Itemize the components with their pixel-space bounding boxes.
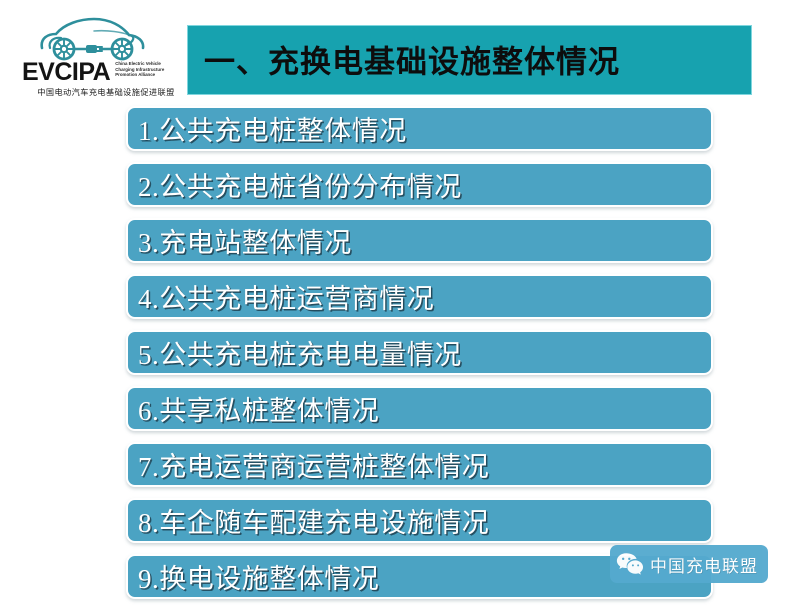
toc-item-2[interactable]: 2.公共充电桩省份分布情况 — [126, 162, 713, 207]
toc-item-4[interactable]: 4.公共充电桩运营商情况 — [126, 274, 713, 319]
toc-item-label: 7.充电运营商运营桩整体情况 — [128, 445, 489, 484]
logo-english-line-3: Promotion Alliance — [115, 72, 164, 78]
toc-item-7[interactable]: 7.充电运营商运营桩整体情况 — [126, 442, 713, 487]
table-of-contents: 1.公共充电桩整体情况 2.公共充电桩省份分布情况 3.充电站整体情况 4.公共… — [126, 106, 716, 610]
logo-wordmark: EVCIPA — [22, 60, 110, 84]
toc-item-6[interactable]: 6.共享私桩整体情况 — [126, 386, 713, 431]
toc-item-label: 3.充电站整体情况 — [128, 221, 352, 260]
logo-english-line-1: China Electric Vehicle — [115, 61, 164, 67]
toc-item-1[interactable]: 1.公共充电桩整体情况 — [126, 106, 713, 151]
logo-english-name: China Electric Vehicle Charging Infrastr… — [115, 61, 164, 78]
section-header-bar: 一、充换电基础设施整体情况 — [187, 25, 752, 95]
toc-item-label: 6.共享私桩整体情况 — [128, 389, 379, 428]
toc-item-3[interactable]: 3.充电站整体情况 — [126, 218, 713, 263]
wechat-watermark: 中国充电联盟 — [610, 545, 768, 583]
wechat-icon — [616, 552, 644, 576]
logo-wordmark-row: EVCIPA China Electric Vehicle Charging I… — [22, 60, 186, 84]
toc-item-5[interactable]: 5.公共充电桩充电电量情况 — [126, 330, 713, 375]
toc-item-label: 2.公共充电桩省份分布情况 — [128, 165, 462, 204]
toc-item-label: 8.车企随车配建充电设施情况 — [128, 501, 489, 540]
toc-item-8[interactable]: 8.车企随车配建充电设施情况 — [126, 498, 713, 543]
electric-car-charging-logo-icon — [30, 12, 158, 62]
evcipa-logo: EVCIPA China Electric Vehicle Charging I… — [14, 10, 184, 102]
toc-item-label: 4.公共充电桩运营商情况 — [128, 277, 434, 316]
presentation-slide: EVCIPA China Electric Vehicle Charging I… — [0, 0, 800, 600]
toc-item-label: 9.换电设施整体情况 — [128, 557, 379, 596]
toc-item-label: 1.公共充电桩整体情况 — [128, 109, 407, 148]
toc-item-label: 5.公共充电桩充电电量情况 — [128, 333, 462, 372]
logo-chinese-name: 中国电动汽车充电基础设施促进联盟 — [22, 86, 190, 98]
watermark-label: 中国充电联盟 — [650, 552, 758, 577]
page-title: 一、充换电基础设施整体情况 — [204, 37, 620, 82]
